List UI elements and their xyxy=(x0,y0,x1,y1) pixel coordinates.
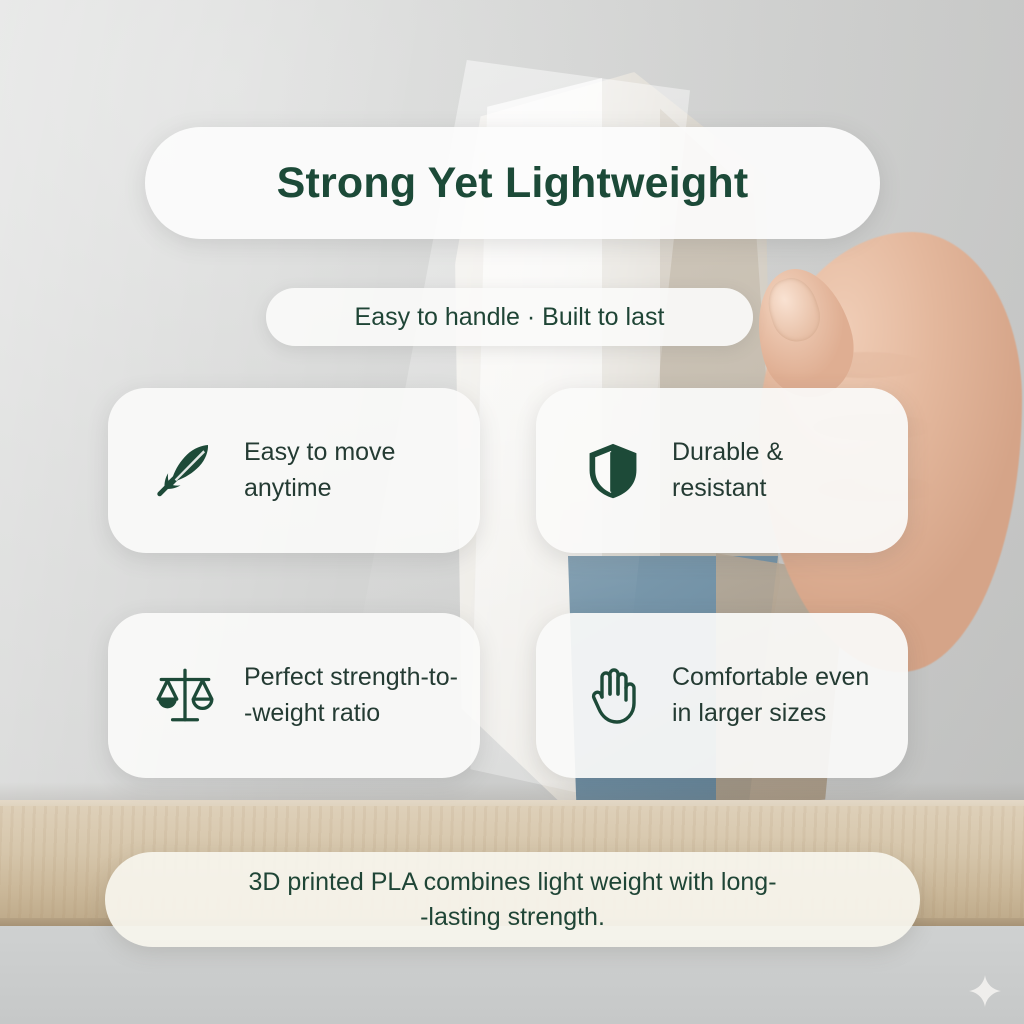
page-title: Strong Yet Lightweight xyxy=(277,159,749,208)
feature-label: Perfect strength-to- -weight ratio xyxy=(244,660,458,731)
balance-scale-icon xyxy=(142,650,228,742)
feature-card-durable[interactable]: Durable & resistant xyxy=(536,388,908,553)
sparkle-icon xyxy=(968,974,1002,1008)
page-subtitle: Easy to handle · Built to last xyxy=(355,303,665,332)
feature-card-comfortable[interactable]: Comfortable even in larger sizes xyxy=(536,613,908,778)
feature-label: Durable & resistant xyxy=(672,435,783,506)
footer-caption-banner: 3D printed PLA combines light weight wit… xyxy=(105,852,920,947)
feather-icon xyxy=(142,425,228,517)
footer-caption: 3D printed PLA combines light weight wit… xyxy=(248,865,776,934)
shield-icon xyxy=(570,425,656,517)
title-pill: Strong Yet Lightweight xyxy=(145,127,880,239)
open-hand-icon xyxy=(570,650,656,742)
feature-card-strength-to-weight[interactable]: Perfect strength-to- -weight ratio xyxy=(108,613,480,778)
feature-label: Comfortable even in larger sizes xyxy=(672,660,869,731)
feature-card-easy-to-move[interactable]: Easy to move anytime xyxy=(108,388,480,553)
feature-label: Easy to move anytime xyxy=(244,435,395,506)
subtitle-pill: Easy to handle · Built to last xyxy=(266,288,753,346)
infographic-overlay: Strong Yet Lightweight Easy to handle · … xyxy=(0,0,1024,1024)
